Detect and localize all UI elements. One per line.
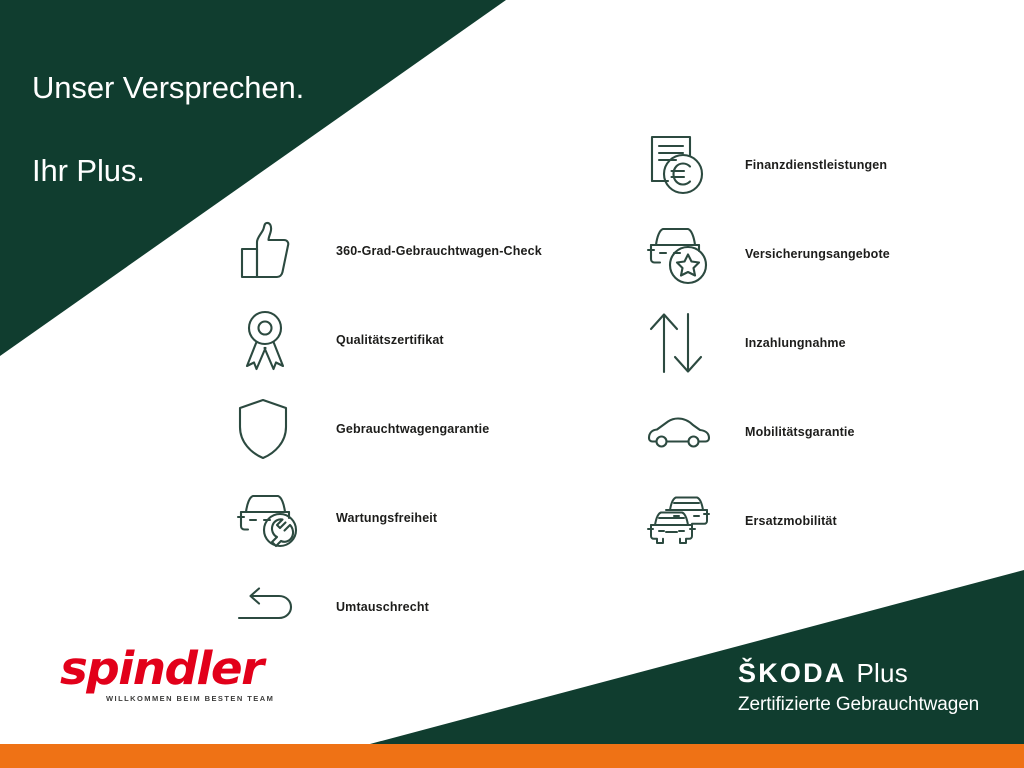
- benefit-item: Inzahlungnahme: [646, 298, 890, 387]
- benefit-item: Umtauschrecht: [236, 562, 542, 651]
- benefit-item: Gebrauchtwagengarantie: [236, 384, 542, 473]
- benefit-item: Versicherungsangebote: [646, 209, 890, 298]
- u-turn-arrow-icon: [236, 574, 304, 640]
- benefit-item: Ersatzmobilität: [646, 476, 890, 565]
- brand-logo-row-primary: ŠKODA Plus: [738, 660, 979, 687]
- dealer-logo-wordmark: spindler: [60, 646, 320, 691]
- headline: Unser Versprechen. Ihr Plus.: [32, 26, 304, 232]
- up-down-arrows-icon: [646, 310, 714, 376]
- rosette-certificate-icon: [236, 307, 304, 373]
- dealer-logo: spindler WILLKOMMEN BEIM BESTEN TEAM: [60, 646, 310, 703]
- headline-line-2: Ihr Plus.: [32, 150, 304, 191]
- car-star-icon: [646, 221, 714, 287]
- document-euro-icon: [646, 132, 714, 198]
- benefit-label: Umtauschrecht: [336, 600, 429, 614]
- benefit-label: Gebrauchtwagengarantie: [336, 422, 489, 436]
- brand-logo-subtitle: Zertifizierte Gebrauchtwagen: [738, 694, 979, 716]
- benefit-label: 360-Grad-Gebrauchtwagen-Check: [336, 244, 542, 258]
- benefit-label: Versicherungsangebote: [745, 247, 890, 261]
- skoda-plus-suffix: Plus: [857, 660, 908, 686]
- benefit-label: Inzahlungnahme: [745, 336, 846, 350]
- orange-footer-bar: [0, 744, 1024, 768]
- benefit-item: Mobilitätsgarantie: [646, 387, 890, 476]
- benefit-item: Qualitätszertifikat: [236, 295, 542, 384]
- car-side-icon: [646, 399, 714, 465]
- benefit-label: Wartungsfreiheit: [336, 511, 437, 525]
- brand-logo: ŠKODA Plus Zertifizierte Gebrauchtwagen: [738, 660, 979, 716]
- promo-banner: Unser Versprechen. Ihr Plus. 360-Grad-Ge…: [0, 0, 1024, 768]
- shield-icon: [236, 396, 304, 462]
- headline-line-1: Unser Versprechen.: [32, 67, 304, 108]
- benefit-label: Ersatzmobilität: [745, 514, 837, 528]
- skoda-wordmark: ŠKODA: [738, 660, 847, 687]
- benefit-label: Mobilitätsgarantie: [745, 425, 855, 439]
- benefit-item: Wartungsfreiheit: [236, 473, 542, 562]
- benefit-item: Finanzdienstleistungen: [646, 120, 890, 209]
- benefit-label: Qualitätszertifikat: [336, 333, 444, 347]
- dealer-logo-tagline: WILLKOMMEN BEIM BESTEN TEAM: [106, 694, 310, 703]
- car-wrench-icon: [236, 485, 304, 551]
- two-cars-icon: [646, 488, 714, 554]
- benefits-left-column: 360-Grad-Gebrauchtwagen-Check Qualitätsz…: [236, 206, 542, 651]
- benefits-right-column: Finanzdienstleistungen Versicherungsange…: [646, 120, 890, 565]
- benefit-label: Finanzdienstleistungen: [745, 158, 887, 172]
